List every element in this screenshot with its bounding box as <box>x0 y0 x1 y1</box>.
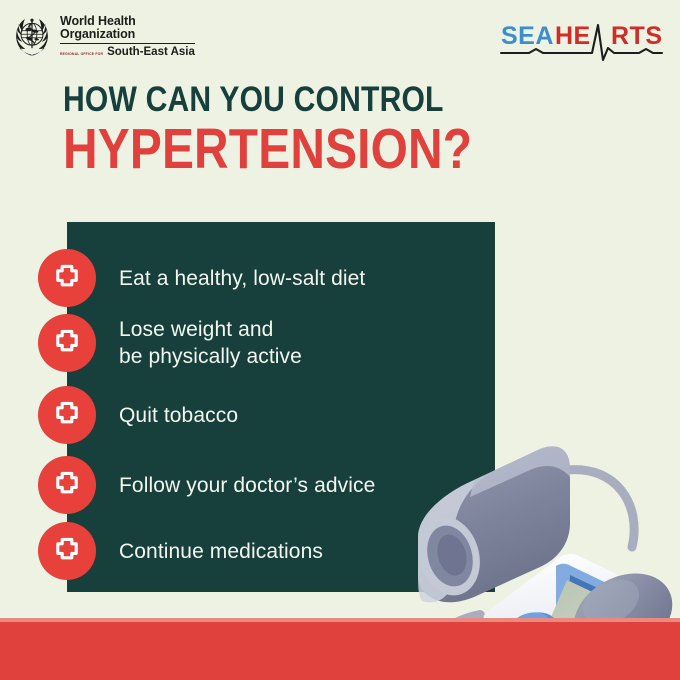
medical-cross-icon <box>38 386 96 444</box>
sea-hearts-logo: SEA HE RTS <box>499 18 664 64</box>
list-item-label: Follow your doctor’s advice <box>119 472 375 499</box>
list-item-label: Continue medications <box>119 538 323 565</box>
poster-canvas: World Health Organization REGIONAL OFFIC… <box>0 0 680 680</box>
medical-cross-glyph <box>49 325 85 361</box>
medical-cross-icon <box>38 456 96 514</box>
sea-hearts-rts-text: RTS <box>611 22 663 50</box>
who-regional-office-label: REGIONAL OFFICE FOR <box>60 52 103 58</box>
medical-cross-icon <box>38 522 96 580</box>
list-item: Follow your doctor’s advice <box>38 456 375 514</box>
list-item: Continue medications <box>38 522 323 580</box>
title-line-2: HYPERTENSION? <box>63 120 472 178</box>
list-item-label: Quit tobacco <box>119 402 238 429</box>
medical-cross-glyph <box>49 260 85 296</box>
medical-cross-icon <box>38 249 96 307</box>
who-emblem-icon <box>10 14 54 58</box>
list-item-label: Eat a healthy, low-salt diet <box>119 265 365 292</box>
sea-hearts-sea-text: SEA <box>501 22 554 50</box>
footer-bar <box>0 622 680 680</box>
who-logo-text: World Health Organization REGIONAL OFFIC… <box>60 14 195 58</box>
list-item: Lose weight and be physically active <box>38 314 302 372</box>
page-title: HOW CAN YOU CONTROL HYPERTENSION? <box>63 82 550 178</box>
who-logo-divider <box>60 43 195 44</box>
medical-cross-glyph <box>49 533 85 569</box>
list-item: Eat a healthy, low-salt diet <box>38 249 365 307</box>
who-region-name: South-East Asia <box>107 46 195 58</box>
medical-cross-glyph <box>49 467 85 503</box>
list-item: Quit tobacco <box>38 386 238 444</box>
who-logo: World Health Organization REGIONAL OFFIC… <box>10 14 195 58</box>
rubber-tube-upper <box>567 470 634 547</box>
medical-cross-glyph <box>49 397 85 433</box>
who-region-row: REGIONAL OFFICE FOR South-East Asia <box>60 46 195 58</box>
list-item-label: Lose weight and be physically active <box>119 316 302 370</box>
title-line-1: HOW CAN YOU CONTROL <box>63 82 482 118</box>
medical-cross-icon <box>38 314 96 372</box>
sea-hearts-he-text: HE <box>555 22 591 50</box>
who-name-line2: Organization <box>60 28 195 41</box>
